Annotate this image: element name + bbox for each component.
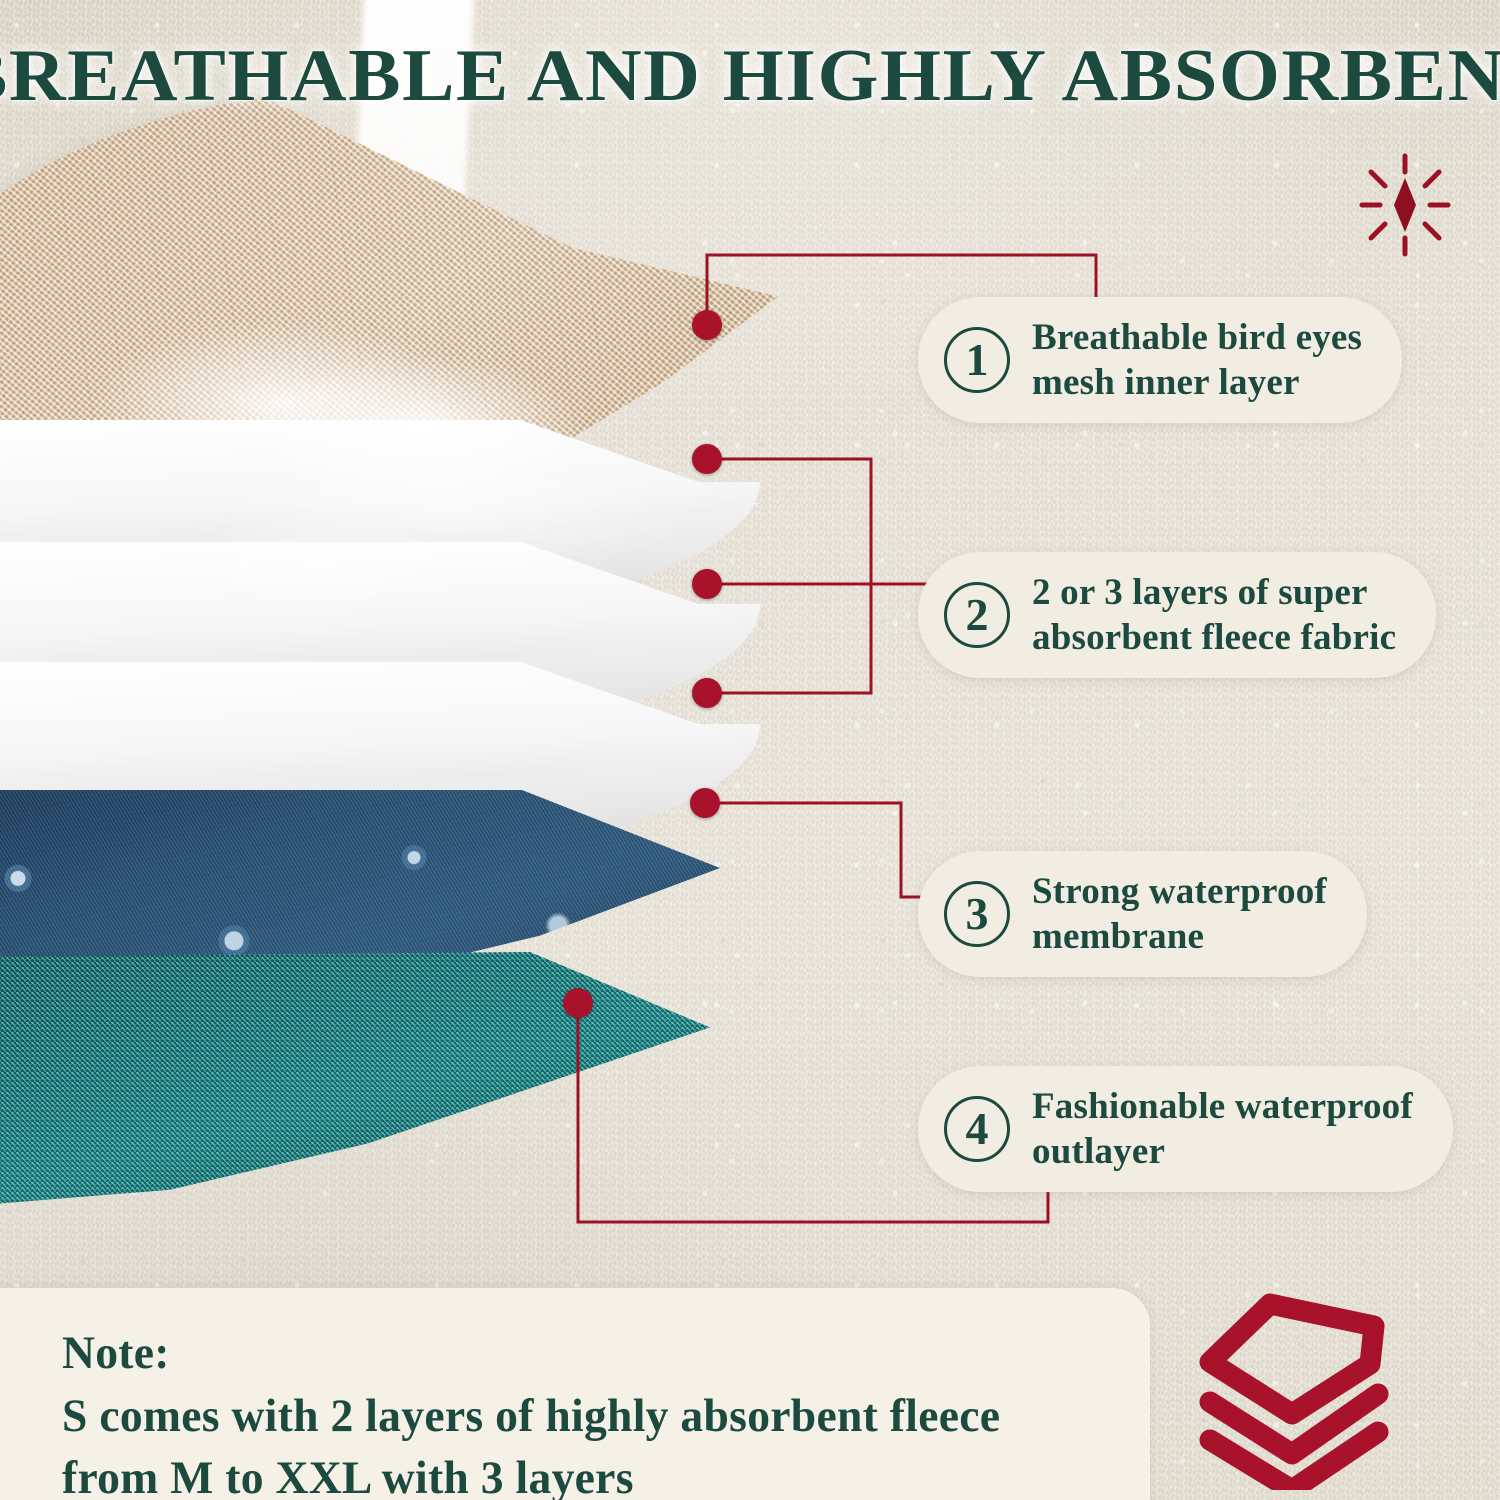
layers-stack-icon: [1192, 1290, 1422, 1490]
callout-absorbent-fleece[interactable]: 2 2 or 3 layers of super absorbent fleec…: [918, 552, 1436, 678]
note-content: Note: S comes with 2 layers of highly ab…: [62, 1322, 1082, 1500]
note-label: Note:: [62, 1322, 1051, 1385]
callout-number-badge: 4: [944, 1096, 1010, 1162]
note-line-1: S comes with 2 layers of highly absorben…: [62, 1385, 1051, 1448]
page-title: BREATHABLE AND HIGHLY ABSORBENT: [0, 34, 1500, 119]
callout-breathable-mesh[interactable]: 1 Breathable bird eyes mesh inner layer: [918, 297, 1402, 423]
callout-number-badge: 1: [944, 327, 1010, 393]
layer-dot-2b: [692, 569, 722, 599]
layer-dot-3: [690, 788, 720, 818]
note-panel: Note: S comes with 2 layers of highly ab…: [0, 1288, 1150, 1500]
layer-dot-2a: [692, 444, 722, 474]
callout-waterproof-membrane[interactable]: 3 Strong waterproof membrane: [918, 851, 1367, 977]
callout-label: Breathable bird eyes mesh inner layer: [1032, 315, 1362, 405]
callout-waterproof-outlayer[interactable]: 4 Fashionable waterproof outlayer: [918, 1066, 1453, 1192]
waterproof-outlayer: [0, 952, 710, 1242]
fabric-layer-stack: [0, 90, 840, 1220]
callout-number-badge: 2: [944, 582, 1010, 648]
note-line-2: from M to XXL with 3 layers: [62, 1447, 1051, 1500]
callout-label: Strong waterproof membrane: [1032, 869, 1327, 959]
layer-dot-4: [563, 988, 593, 1018]
callout-label: Fashionable waterproof outlayer: [1032, 1084, 1413, 1174]
layer-dot-2c: [692, 678, 722, 708]
layer-dot-1: [692, 310, 722, 340]
callout-number-badge: 3: [944, 881, 1010, 947]
callout-label: 2 or 3 layers of super absorbent fleece …: [1032, 570, 1396, 660]
sparkle-icon: [1346, 152, 1464, 262]
